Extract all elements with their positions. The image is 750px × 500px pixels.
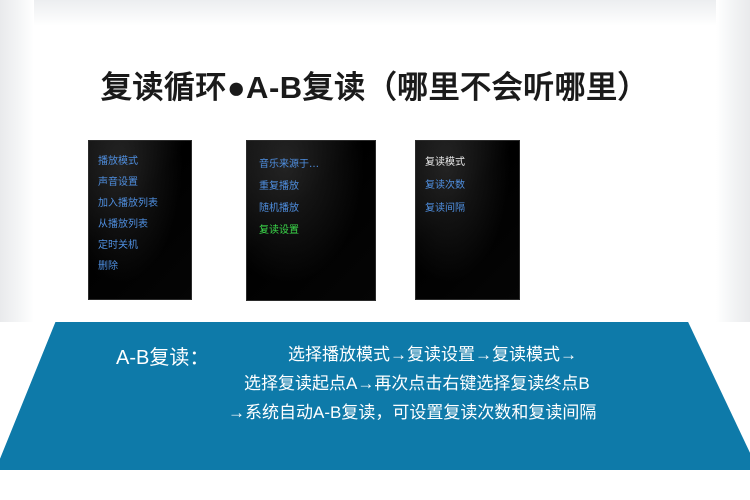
- menu-item[interactable]: 播放模式: [98, 156, 187, 167]
- menu-item[interactable]: 复读次数: [425, 180, 515, 191]
- screens-row: 播放模式 声音设置 加入播放列表 从播放列表 定时关机 删除 音乐来源于… 重复…: [88, 140, 668, 306]
- instruction-line: →系统自动A-B复读，可设置复读次数和复读间隔: [228, 398, 698, 427]
- device-screen-play-mode: 音乐来源于… 重复播放 随机播放 复读设置: [246, 140, 376, 301]
- menu-list: 音乐来源于… 重复播放 随机播放 复读设置: [259, 159, 371, 247]
- menu-item[interactable]: 重复播放: [259, 181, 371, 192]
- menu-item-selected[interactable]: 复读模式: [425, 157, 515, 168]
- menu-item[interactable]: 声音设置: [98, 177, 187, 188]
- page-title: 复读循环●A-B复读（哪里不会听哪里）: [0, 62, 750, 107]
- menu-list: 复读模式 复读次数 复读间隔: [425, 157, 515, 226]
- menu-item[interactable]: 删除: [98, 261, 187, 272]
- menu-item[interactable]: 随机播放: [259, 203, 371, 214]
- slide-page: 复读循环●A-B复读（哪里不会听哪里） 播放模式 声音设置 加入播放列表 从播放…: [0, 0, 750, 500]
- instruction-line: 选择复读起点A→再次点击右键选择复读终点B: [228, 369, 698, 398]
- menu-item[interactable]: 从播放列表: [98, 219, 187, 230]
- background-top-gradient: [0, 0, 750, 26]
- instruction-line: 选择播放模式→复读设置→复读模式→: [228, 340, 698, 369]
- menu-item-selected[interactable]: 复读设置: [259, 225, 371, 236]
- menu-item[interactable]: 加入播放列表: [98, 198, 187, 209]
- band-instructions: 选择播放模式→复读设置→复读模式→ 选择复读起点A→再次点击右键选择复读终点B …: [228, 340, 698, 427]
- device-screen-repeat-settings: 复读模式 复读次数 复读间隔: [415, 140, 520, 300]
- footer-area: [0, 470, 750, 500]
- menu-item[interactable]: 定时关机: [98, 240, 187, 251]
- band-label: A-B复读：: [116, 341, 209, 370]
- band-wedge-left: [0, 322, 60, 470]
- device-screen-player-menu: 播放模式 声音设置 加入播放列表 从播放列表 定时关机 删除: [88, 140, 192, 300]
- menu-item[interactable]: 音乐来源于…: [259, 159, 371, 170]
- menu-item[interactable]: 复读间隔: [425, 203, 515, 214]
- menu-list: 播放模式 声音设置 加入播放列表 从播放列表 定时关机 删除: [98, 156, 187, 282]
